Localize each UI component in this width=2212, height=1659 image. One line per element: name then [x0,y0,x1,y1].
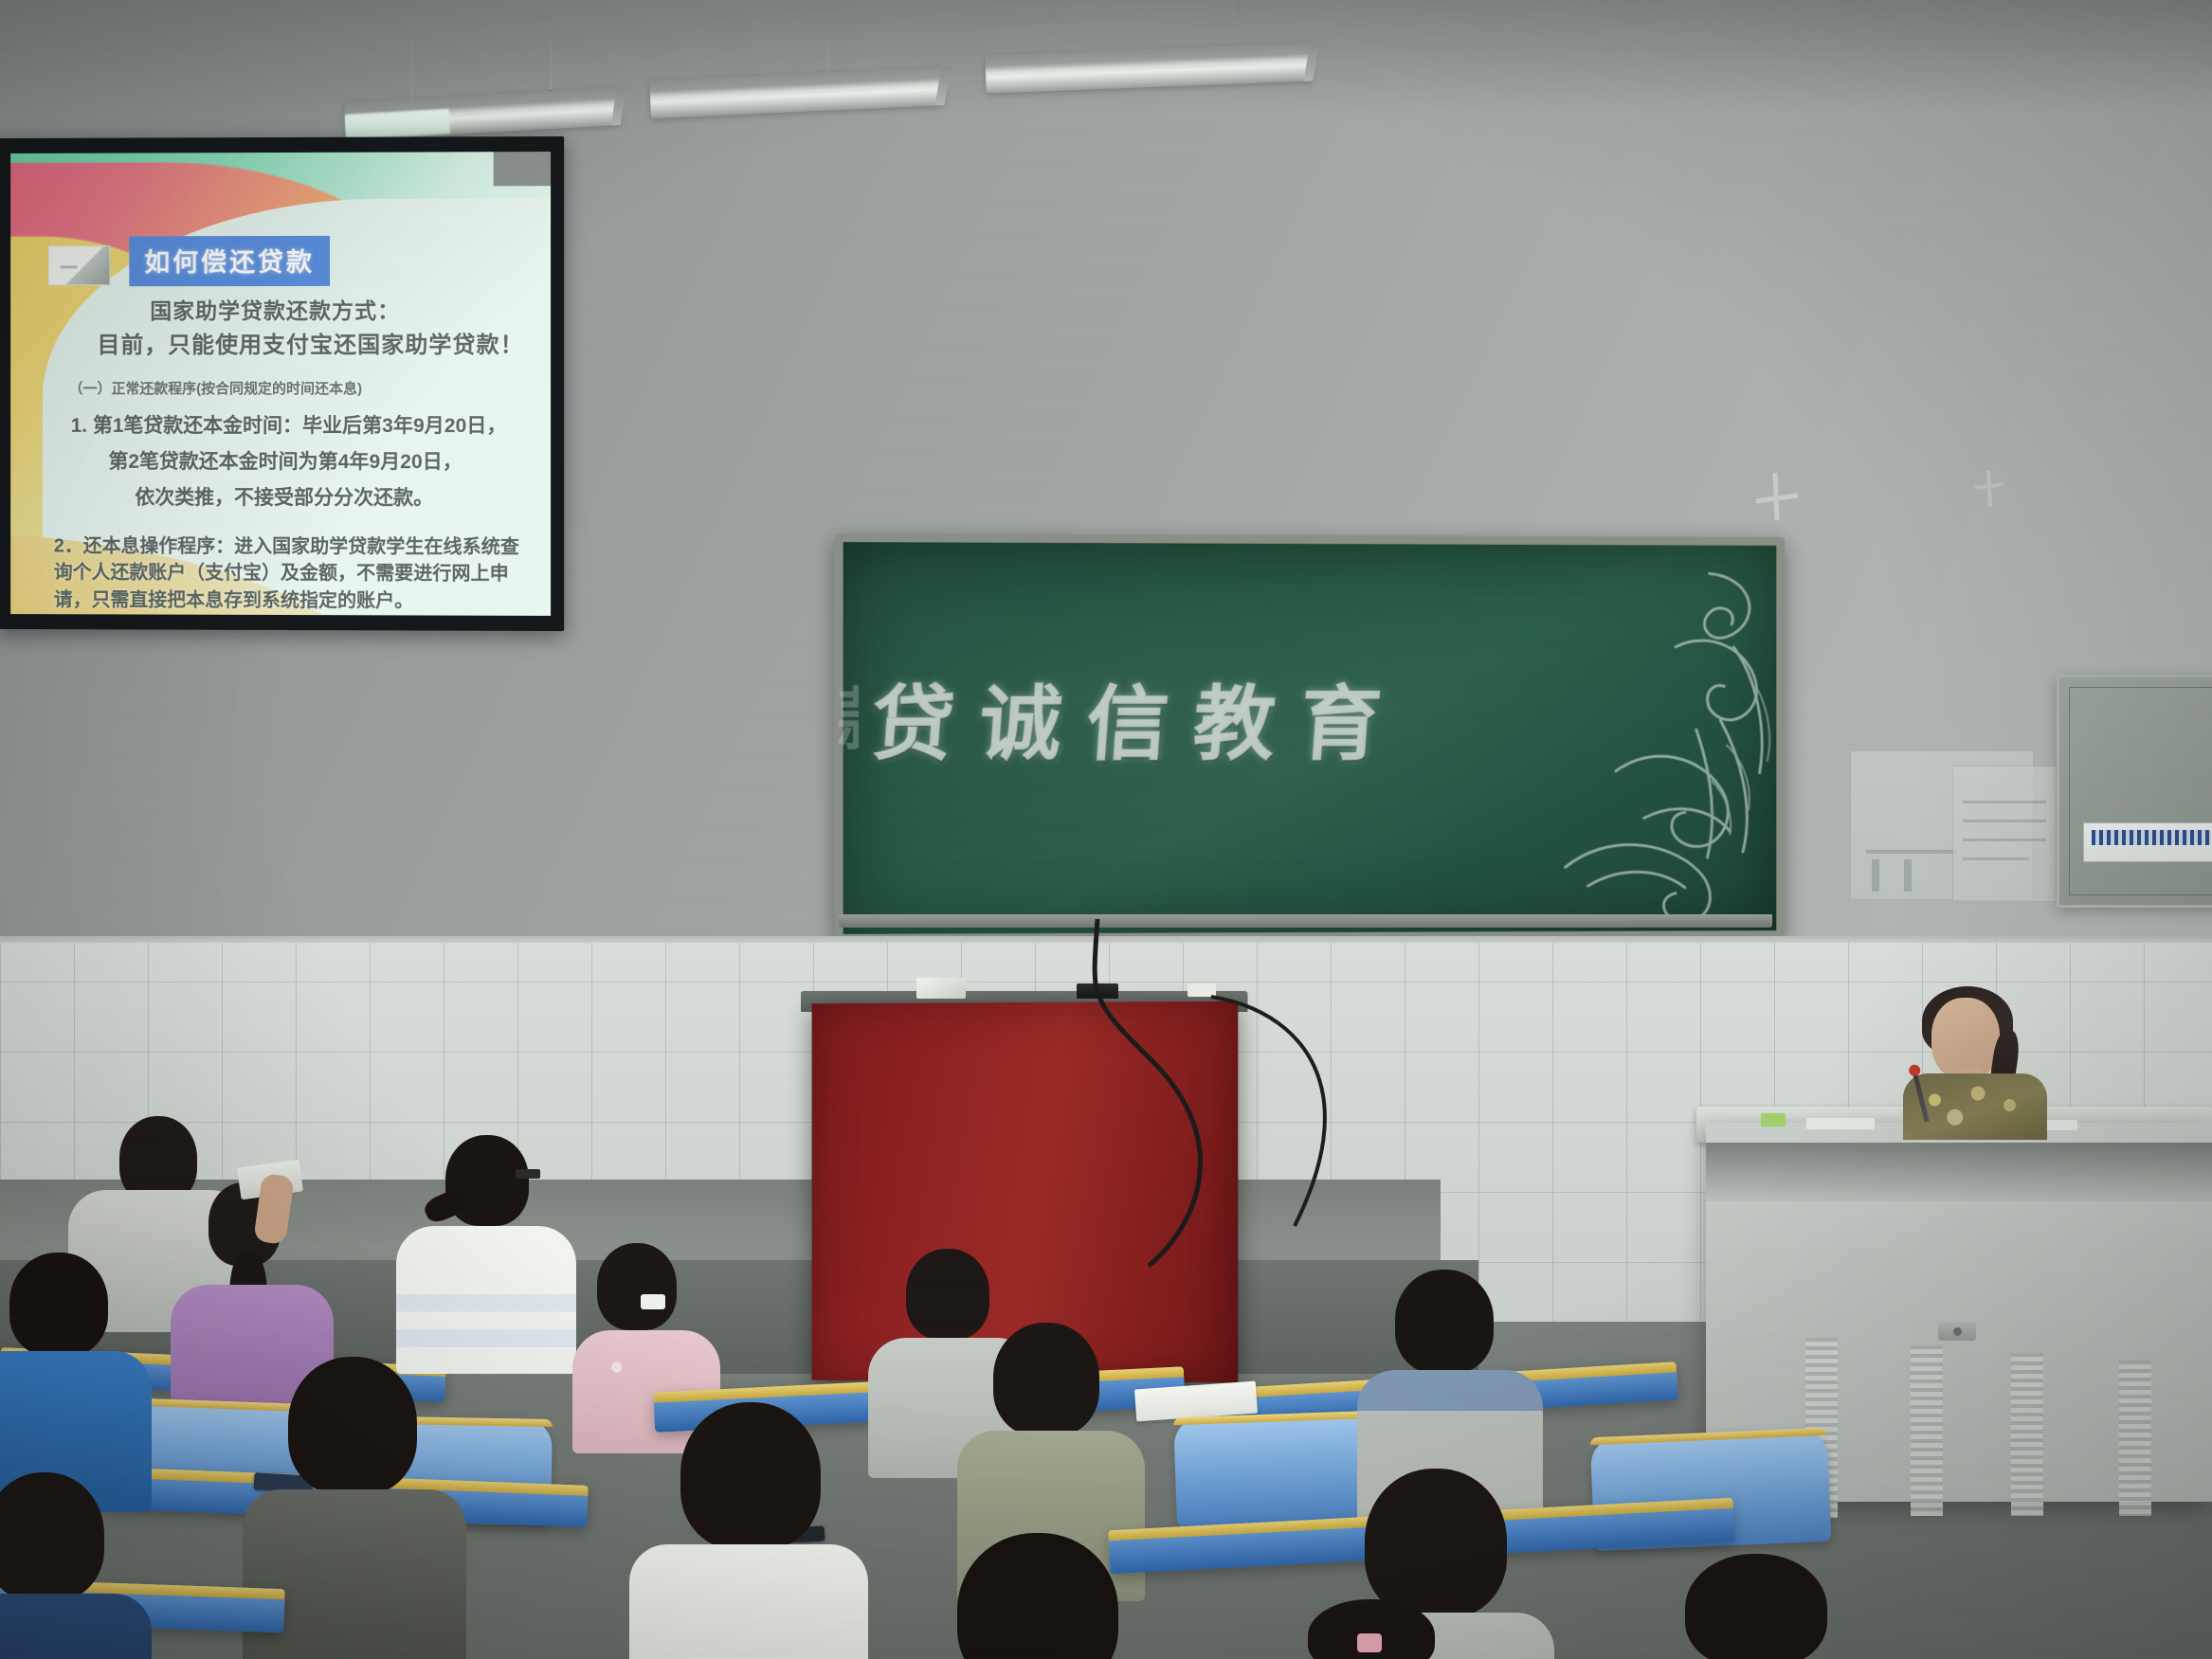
notice-line [1872,859,1879,892]
light-hanger-wire [410,0,413,106]
slide-numbered-line-3: 依次类推，不接受部分分次还款。 [135,482,433,512]
student-head [993,1323,1099,1436]
presenter [1886,990,2066,1132]
slide-lead-line-2: 目前，只能使用支付宝还国家助学贷款！ [98,326,524,359]
hair-clip [641,1294,665,1309]
student-head [597,1243,677,1330]
projection-screen: 如何偿还贷款 国家助学贷款还款方式： 目前，只能使用支付宝还国家助学贷款！ （一… [0,136,564,631]
light-hanger-wire [550,0,553,93]
cabinet-lock[interactable] [1938,1322,1976,1341]
student-torso [0,1594,152,1659]
blackboard: 款 贷诚信教育 [834,533,1785,943]
blackboard-partial-char: 款 [838,666,859,763]
student-head [906,1249,989,1340]
slide-numbered-line-2: 第2笔贷款还本金时间为第4年9月20日， [108,446,462,475]
student-head [680,1402,821,1550]
hair-tie [1357,1633,1382,1652]
student-torso [629,1544,868,1659]
notice-line [1963,801,2046,803]
student-head [1685,1554,1827,1659]
light-hanger-wire [826,0,829,83]
notice-line [1963,820,2046,822]
notice-line [1904,859,1912,892]
power-cable [1204,991,1422,1275]
breaker-row [2083,822,2212,862]
vent-louver [2119,1361,2151,1516]
console-recess-shadow [1706,1143,2212,1201]
electrical-panel [2057,675,2212,908]
student-head [9,1253,108,1357]
light-glow [345,109,450,139]
lecture-hall-photo: 如何偿还贷款 国家助学贷款还款方式： 目前，只能使用支付宝还国家助学贷款！ （一… [0,0,2212,1659]
slide-paragraph: 2．还本息操作程序：进入国家助学贷款学生在线系统查询个人还款账户（支付宝）及金额… [54,532,528,615]
student-torso [396,1226,576,1374]
slide-title: 如何偿还贷款 [129,236,330,286]
student-head [288,1357,417,1495]
vent-louver [1911,1345,1943,1516]
glasses-icon [516,1169,540,1179]
wall-tape-mark [1749,469,1805,535]
slide-section-heading: （一）正常还款程序(按合同规定的时间还本息) [69,378,362,398]
desk-microphone-stand [1806,1118,1875,1129]
notice-line [1963,857,2029,860]
wall-notice-right [1952,766,2057,902]
blackboard-chalk-text: 贷诚信教育 [868,657,1410,776]
notice-line [1963,839,2046,841]
crumpled-paper-on-lectern [916,978,966,999]
student-head [0,1472,104,1601]
breaker-switches [2092,830,2211,845]
chalk-floral-decoration [1475,535,1784,942]
student-head [1365,1469,1507,1618]
slide-corner-notch [494,152,551,186]
notice-line [1866,850,1957,854]
image-placeholder-icon [48,245,111,285]
student-head [1395,1270,1494,1374]
wall-tape-mark [1971,469,2009,516]
presentation-slide: 如何偿还贷款 国家助学贷款还款方式： 目前，只能使用支付宝还国家助学贷款！ （一… [10,152,551,616]
green-object-on-desk [1761,1113,1786,1127]
vent-louver [2011,1353,2043,1516]
slide-numbered-line-1: 1. 第1笔贷款还本金时间：毕业后第3年9月20日， [71,410,507,439]
panel-inner-frame [2069,687,2212,895]
placeholder-line [61,265,78,268]
slide-lead-line-1: 国家助学贷款还款方式： [150,293,400,325]
student-torso [243,1489,466,1659]
